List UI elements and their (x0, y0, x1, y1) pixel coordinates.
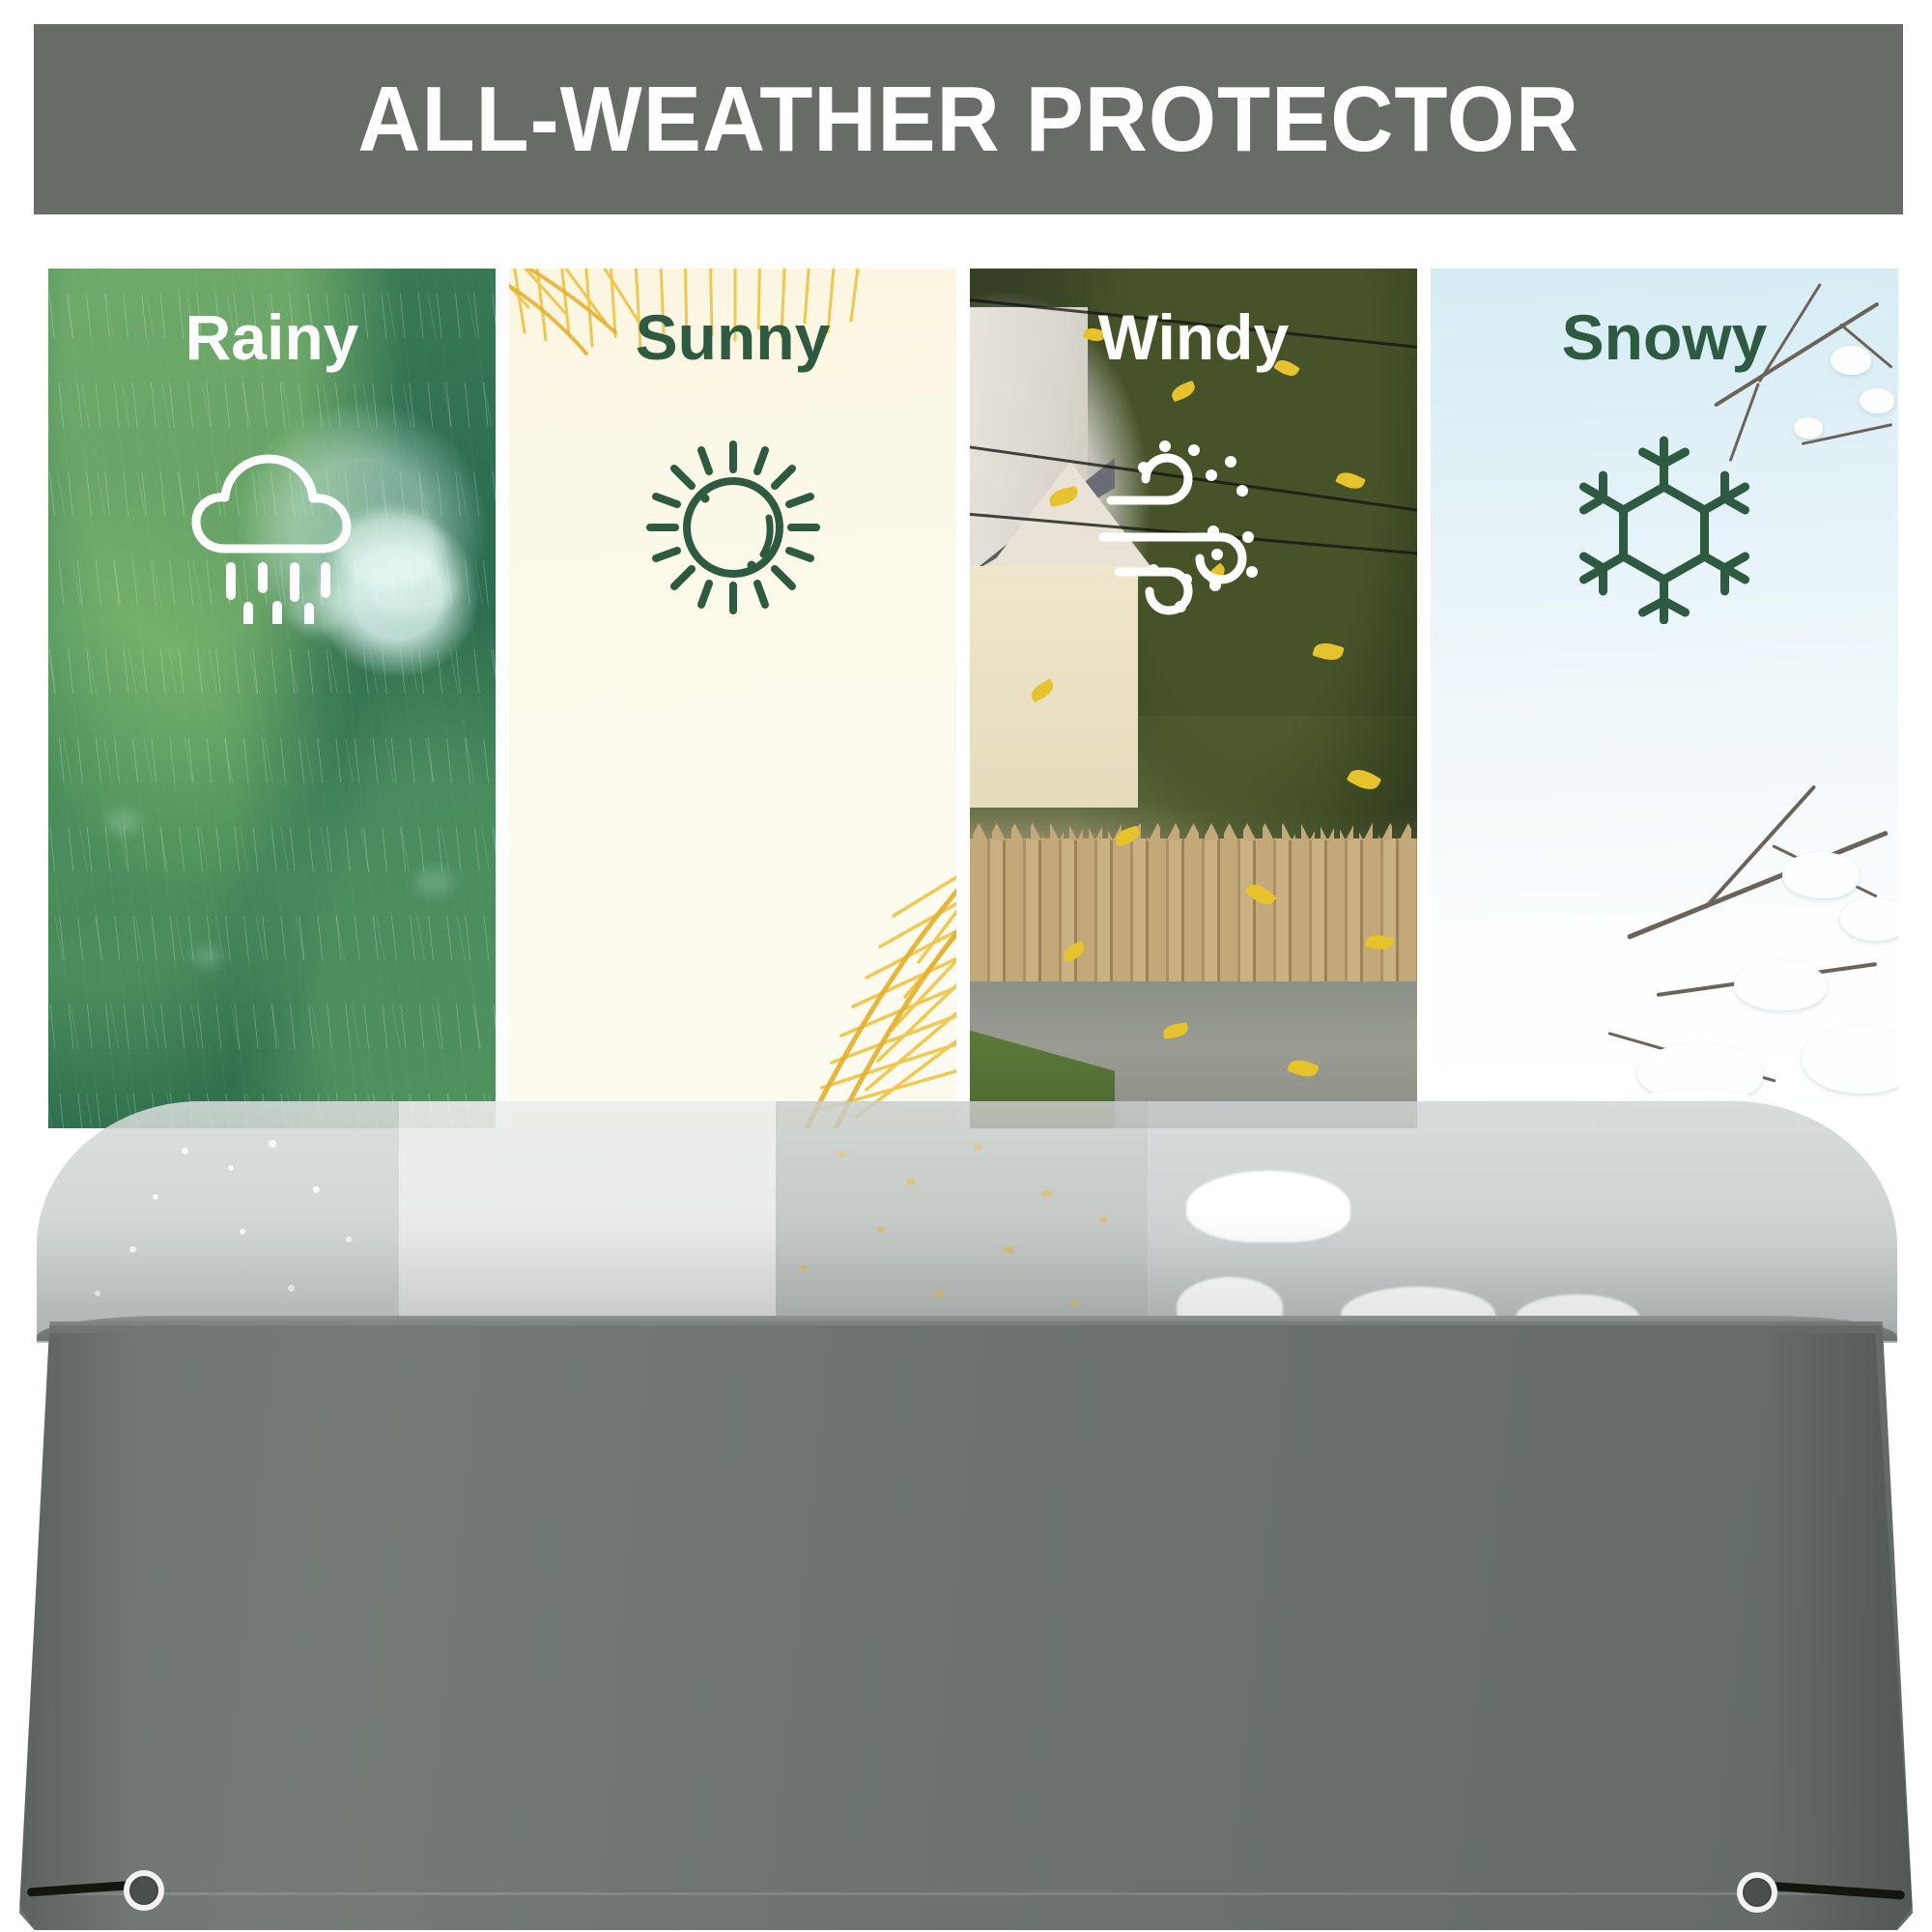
grommet-left[interactable] (124, 1870, 164, 1911)
cloud-rain-icon (181, 431, 364, 629)
wind-icon (1097, 431, 1291, 629)
cover-top-highlight (37, 1101, 1897, 1343)
rain-streaks (48, 269, 496, 1128)
flying-leaf (1335, 469, 1366, 493)
weather-label-snowy: Snowy (1431, 305, 1898, 369)
flying-leaf (1347, 765, 1382, 795)
weather-panel-snowy: Snowy (1431, 269, 1898, 1128)
product-infographic: ALL-WEATHER PROTECTOR Rainy (0, 0, 1932, 1932)
bokeh-highlight (193, 945, 222, 968)
wooden-fence (970, 838, 1417, 983)
weather-panel-rainy: Rainy (48, 269, 496, 1128)
bokeh-highlight (106, 810, 139, 835)
palm-frond-bottom (652, 848, 956, 1128)
snowy-branch-cluster-bottom (1599, 790, 1898, 1128)
flying-leaf (1169, 381, 1197, 403)
weather-panel-strip: Rainy (48, 269, 1898, 1128)
snowflake-icon (1576, 431, 1754, 629)
bokeh-highlight (367, 558, 454, 616)
cover-top-surface (37, 1101, 1897, 1343)
weather-panel-sunny: Sunny (509, 269, 956, 1128)
cover-right-shadow (1768, 1333, 1913, 1930)
header-banner: ALL-WEATHER PROTECTOR (34, 24, 1903, 214)
cover-body (19, 1321, 1913, 1930)
grommet-right[interactable] (1737, 1872, 1777, 1913)
weather-label-rainy: Rainy (48, 305, 496, 369)
sun-icon (641, 431, 825, 624)
weather-panel-windy: Windy (970, 269, 1417, 1128)
cover-left-shadow (19, 1333, 135, 1930)
cover-hem-stitch (46, 1892, 1886, 1895)
page-title: ALL-WEATHER PROTECTOR (357, 73, 1579, 166)
weather-label-windy: Windy (970, 305, 1417, 369)
bokeh-highlight (415, 867, 454, 896)
flying-leaf (1312, 639, 1345, 664)
weather-label-sunny: Sunny (509, 305, 956, 369)
outdoor-furniture-cover (0, 1101, 1932, 1932)
